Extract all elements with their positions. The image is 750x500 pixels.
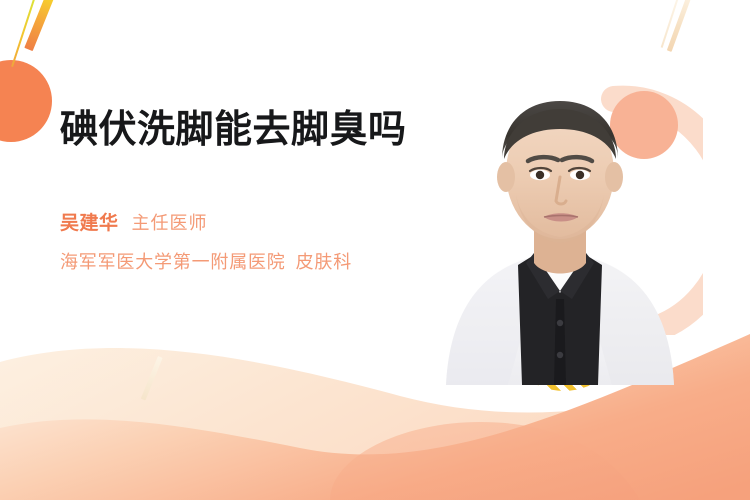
doctor-portrait-image bbox=[430, 55, 690, 385]
orange-circle-decor bbox=[0, 60, 52, 142]
doctor-title: 主任医师 bbox=[132, 209, 208, 235]
wave-accent-lobe bbox=[330, 422, 640, 500]
stripe-faint-right-a-icon bbox=[667, 0, 693, 52]
stripe-thin-yellow-icon bbox=[11, 0, 36, 67]
department-name: 皮肤科 bbox=[296, 252, 352, 272]
text-block: 碘伏洗脚能去脚臭吗 吴建华 主任医师 海军军医大学第一附属医院皮肤科 bbox=[60, 108, 430, 274]
video-cover-card: 碘伏洗脚能去脚臭吗 吴建华 主任医师 海军军医大学第一附属医院皮肤科 bbox=[0, 0, 750, 500]
portrait-zone bbox=[430, 55, 730, 385]
page-title: 碘伏洗脚能去脚臭吗 bbox=[60, 108, 430, 152]
stripe-thick-orange-icon bbox=[24, 0, 54, 51]
doctor-name: 吴建华 bbox=[60, 208, 119, 235]
stripe-faint-bottom-icon bbox=[141, 356, 163, 401]
byline: 吴建华 主任医师 bbox=[60, 208, 430, 235]
hospital-name: 海军军医大学第一附属医院 bbox=[60, 252, 286, 272]
stripe-faint-right-b-icon bbox=[661, 0, 680, 48]
affiliation: 海军军医大学第一附属医院皮肤科 bbox=[60, 248, 430, 274]
